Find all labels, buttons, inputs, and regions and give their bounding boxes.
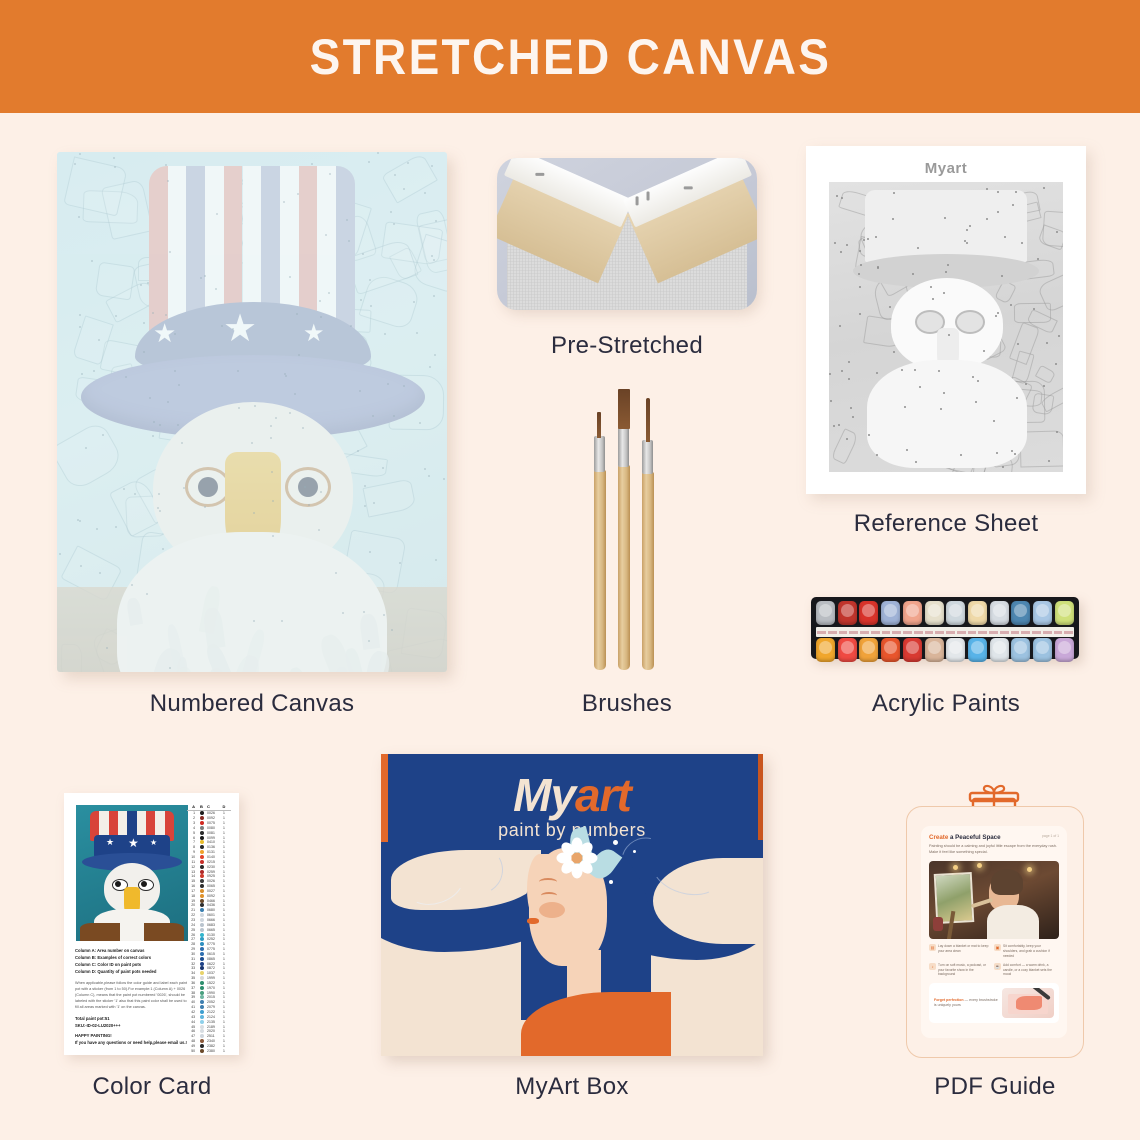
cell-color-swatch <box>200 1029 204 1033</box>
eagle-eye-right <box>285 467 331 507</box>
cell-color-id: 2135 <box>207 1020 221 1024</box>
cell-area-number: 26 <box>187 933 197 937</box>
cell-quantity: 1 <box>221 952 227 956</box>
color-card-row: 13 0259 1 <box>187 869 231 874</box>
col-header-d: D <box>221 804 227 809</box>
cell-color-swatch <box>200 1034 204 1038</box>
cell-color-swatch <box>200 903 204 907</box>
color-card-row: 30 0615 1 <box>187 951 231 956</box>
cell-quantity: 1 <box>221 1029 227 1033</box>
cell-quantity: 1 <box>221 995 227 999</box>
color-card-row: 46 2020 1 <box>187 1029 231 1034</box>
color-card-row: 38 1990 1 <box>187 990 231 995</box>
cell-color-swatch <box>200 1025 204 1029</box>
cell-color-swatch <box>200 952 204 956</box>
cell-color-id: 0666 <box>207 918 221 922</box>
brush-flat <box>618 388 630 670</box>
cell-color-swatch <box>200 995 204 999</box>
paint-pot <box>925 638 944 662</box>
color-card-row: 5 0081 1 <box>187 830 231 835</box>
pdf-page-number: page 1 of 1 <box>1042 834 1059 838</box>
cell-quantity: 1 <box>221 860 227 864</box>
pdf-heading: Create a Peaceful Space <box>929 834 1059 841</box>
color-card-row: 32 0622 1 <box>187 961 231 966</box>
cell-quantity: 1 <box>221 831 227 835</box>
cell-quantity: 1 <box>221 1039 227 1043</box>
legend-d: Column D: Quantity of paint pots needed <box>75 969 191 976</box>
color-card-row: 49 2382 1 <box>187 1044 231 1049</box>
cell-color-id: 0099 <box>207 836 221 840</box>
cell-quantity: 1 <box>221 933 227 937</box>
cell-quantity: 1 <box>221 889 227 893</box>
star-icon: ★ <box>223 310 257 348</box>
paint-pot <box>990 601 1009 625</box>
cell-area-number: 18 <box>187 894 197 898</box>
cell-quantity: 1 <box>221 811 227 815</box>
caption-pre-stretched: Pre-Stretched <box>497 332 757 360</box>
cell-quantity: 1 <box>221 826 227 830</box>
pdf-heading-accent: Create <box>929 834 948 841</box>
tip-text: Turn on soft music, a podcast, or your f… <box>938 963 991 978</box>
paint-pot <box>990 638 1009 662</box>
cell-quantity: 1 <box>221 923 227 927</box>
gray-eye-right <box>955 310 985 334</box>
cell-color-swatch <box>200 1005 204 1009</box>
cell-area-number: 4 <box>187 826 197 830</box>
cell-color-id: 2020 <box>207 1029 221 1033</box>
cell-color-id: 0075 <box>207 821 221 825</box>
cell-color-swatch <box>200 831 204 835</box>
cell-quantity: 1 <box>221 928 227 932</box>
cheek-blush <box>539 902 565 918</box>
color-card-row: 24 0683 1 <box>187 922 231 927</box>
color-card-row: 15 0026 1 <box>187 879 231 884</box>
cell-color-swatch <box>200 816 204 820</box>
color-card-row: 21 0680 1 <box>187 908 231 913</box>
help-text: If you have any questions or need help,p… <box>75 1039 191 1046</box>
cell-area-number: 25 <box>187 928 197 932</box>
cell-color-swatch <box>200 850 204 854</box>
pre-stretched-image <box>497 158 757 310</box>
cell-color-swatch <box>200 986 204 990</box>
tip-text: Sit comfortably, keep your shoulders, an… <box>1003 944 1056 959</box>
cell-quantity: 1 <box>221 884 227 888</box>
cell-quantity: 1 <box>221 913 227 917</box>
cell-color-swatch <box>200 1000 204 1004</box>
cell-color-id: 0622 <box>207 962 221 966</box>
page-title: STRETCHED CANVAS <box>309 28 831 86</box>
cell-color-id: 0026 <box>207 811 221 815</box>
cell-area-number: 14 <box>187 874 197 878</box>
color-card-row: 1 0026 1 <box>187 811 231 816</box>
cell-color-swatch <box>200 1015 204 1019</box>
cell-color-id: 0683 <box>207 923 221 927</box>
cell-color-id: 0466 <box>207 899 221 903</box>
cell-color-id: 1522 <box>207 981 221 985</box>
cell-quantity: 1 <box>221 966 227 970</box>
brushes-image <box>594 385 664 670</box>
cell-color-id: 2079 <box>207 1005 221 1009</box>
cell-area-number: 20 <box>187 903 197 907</box>
cell-color-id: 0131 <box>207 850 221 854</box>
cell-color-swatch <box>200 971 204 975</box>
color-card-row: 11 0215 1 <box>187 859 231 864</box>
color-card-row: 4 0080 1 <box>187 826 231 831</box>
cell-area-number: 23 <box>187 918 197 922</box>
color-card-row: 29 0775 1 <box>187 947 231 952</box>
cell-area-number: 16 <box>187 884 197 888</box>
color-card-row: 16 0065 1 <box>187 884 231 889</box>
col-header-a: A <box>187 804 197 809</box>
cell-color-id: 0230 <box>207 865 221 869</box>
cell-color-swatch <box>200 947 204 951</box>
cell-area-number: 7 <box>187 840 197 844</box>
caption-numbered-canvas: Numbered Canvas <box>57 690 447 718</box>
cell-color-swatch <box>200 962 204 966</box>
cell-quantity: 1 <box>221 1049 227 1053</box>
paint-pot <box>838 638 857 662</box>
paint-pot <box>838 601 857 625</box>
cell-color-swatch <box>200 933 204 937</box>
cell-color-swatch <box>200 845 204 849</box>
color-card-row: 7 0410 1 <box>187 840 231 845</box>
cell-color-id: 2124 <box>207 1015 221 1019</box>
color-card-row: 31 0865 1 <box>187 956 231 961</box>
star-icon: ★ <box>153 320 176 346</box>
cell-color-id: 0665 <box>207 928 221 932</box>
cell-area-number: 50 <box>187 1049 197 1053</box>
gray-hat-crown <box>865 190 1027 262</box>
pdf-note: Forget perfection — every brushstroke is… <box>929 983 1059 1023</box>
staple-icon <box>684 186 693 189</box>
cell-color-id: 0080 <box>207 826 221 830</box>
color-card-row: 8 0136 1 <box>187 845 231 850</box>
cell-color-swatch <box>200 913 204 917</box>
cell-color-id: 2122 <box>207 1010 221 1014</box>
cell-color-swatch <box>200 1010 204 1014</box>
pdf-tip: ♪ Turn on soft music, a podcast, or your… <box>929 963 994 978</box>
acrylic-paints-image <box>811 597 1079 659</box>
color-card-row: 42 2122 1 <box>187 1010 231 1015</box>
paint-pot <box>1055 601 1074 625</box>
cell-color-swatch <box>200 821 204 825</box>
cell-quantity: 1 <box>221 821 227 825</box>
cell-color-id: 2380 <box>207 1049 221 1053</box>
paint-tray-label-strip <box>816 627 1074 637</box>
eyebrow <box>539 878 557 886</box>
cell-area-number: 10 <box>187 855 197 859</box>
page-header: STRETCHED CANVAS <box>0 0 1140 113</box>
lips <box>527 918 539 924</box>
cell-quantity: 1 <box>221 816 227 820</box>
brush-small <box>594 415 606 670</box>
pdf-subtitle: Painting should be a calming and joyful … <box>929 844 1059 856</box>
cell-quantity: 1 <box>221 981 227 985</box>
color-card-row: 17 0027 1 <box>187 889 231 894</box>
cell-area-number: 5 <box>187 831 197 835</box>
caption-acrylic-paints: Acrylic Paints <box>806 690 1086 718</box>
cell-quantity: 1 <box>221 942 227 946</box>
legend-a: Column A: Area number on canvas <box>75 948 191 955</box>
tip-text: Add comfort — a warm drink, a candle, or… <box>1003 963 1056 978</box>
canvas-artwork: ★ ★ ★ <box>57 152 447 672</box>
reference-sheet-image: Myart <box>806 146 1086 494</box>
cell-area-number: 3 <box>187 821 197 825</box>
cell-quantity: 1 <box>221 870 227 874</box>
color-card-row: 19 0466 1 <box>187 898 231 903</box>
tip-icon: ☕ <box>994 963 1001 970</box>
cell-area-number: 19 <box>187 899 197 903</box>
cell-color-id: 0092 <box>207 816 221 820</box>
cell-quantity: 1 <box>221 918 227 922</box>
cell-color-id: 0615 <box>207 952 221 956</box>
color-card-row: 22 0601 1 <box>187 913 231 918</box>
paint-pot <box>1011 638 1030 662</box>
color-card-row: 27 0252 1 <box>187 937 231 942</box>
color-card-row: 33 0872 1 <box>187 966 231 971</box>
cell-quantity: 1 <box>221 976 227 980</box>
color-card-row: 20 0436 1 <box>187 903 231 908</box>
paint-pot <box>968 638 987 662</box>
paint-pot <box>903 638 922 662</box>
cell-color-id: 0215 <box>207 860 221 864</box>
brush-round <box>642 398 654 670</box>
cell-color-id: 0865 <box>207 957 221 961</box>
cell-color-swatch <box>200 942 204 946</box>
color-card-row: 45 2189 1 <box>187 1024 231 1029</box>
cell-quantity: 1 <box>221 855 227 859</box>
cell-area-number: 22 <box>187 913 197 917</box>
staple-icon <box>636 196 639 205</box>
cell-color-id: 0065 <box>207 884 221 888</box>
cell-quantity: 1 <box>221 899 227 903</box>
cell-color-swatch <box>200 899 204 903</box>
cell-area-number: 1 <box>187 811 197 815</box>
color-card-row: 36 1522 1 <box>187 981 231 986</box>
myart-box-image: Myart paint by numbers <box>381 754 763 1056</box>
cell-color-swatch <box>200 826 204 830</box>
color-card-row: 40 2052 1 <box>187 1000 231 1005</box>
cell-color-swatch <box>200 908 204 912</box>
cell-color-swatch <box>200 1020 204 1024</box>
staple-icon <box>647 191 650 200</box>
col-header-b: B <box>200 804 204 808</box>
pdf-tip: ☕ Add comfort — a warm drink, a candle, … <box>994 963 1059 978</box>
cell-area-number: 11 <box>187 860 197 864</box>
cell-color-swatch <box>200 894 204 898</box>
eye-closed <box>541 892 557 899</box>
paint-pot <box>925 601 944 625</box>
cell-quantity: 1 <box>221 836 227 840</box>
cell-quantity: 1 <box>221 947 227 951</box>
cell-quantity: 1 <box>221 879 227 883</box>
paint-pot-row-top <box>816 601 1074 626</box>
cell-color-swatch <box>200 855 204 859</box>
cell-area-number: 21 <box>187 908 197 912</box>
color-card-row: 18 0092 1 <box>187 893 231 898</box>
cell-quantity: 1 <box>221 1034 227 1038</box>
cell-color-id: 0601 <box>207 913 221 917</box>
cell-quantity: 1 <box>221 845 227 849</box>
cell-color-swatch <box>200 1044 204 1048</box>
paint-pot <box>881 601 900 625</box>
cell-color-id: 0775 <box>207 947 221 951</box>
pdf-photo <box>929 861 1059 939</box>
col-header-c: C <box>207 804 221 809</box>
sku-code: SKU:-ID-02-LU2020+++ <box>75 1022 191 1029</box>
color-card-row: 50 2380 1 <box>187 1048 231 1053</box>
cell-color-id: 0680 <box>207 908 221 912</box>
cell-color-swatch <box>200 865 204 869</box>
cell-color-id: 0872 <box>207 966 221 970</box>
cell-color-swatch <box>200 811 204 815</box>
cell-area-number: 6 <box>187 836 197 840</box>
color-card-table-header: A B C D <box>187 804 231 811</box>
cell-area-number: 27 <box>187 937 197 941</box>
cell-quantity: 1 <box>221 991 227 995</box>
pdf-guide-page: page 1 of 1 Create a Peaceful Space Pain… <box>921 826 1067 1038</box>
cell-color-swatch <box>200 937 204 941</box>
cell-color-id: 1037 <box>207 971 221 975</box>
caption-myart-box: MyArt Box <box>381 1073 763 1101</box>
color-card-row: 34 1037 1 <box>187 971 231 976</box>
cell-color-swatch <box>200 1049 204 1053</box>
paint-pot <box>968 601 987 625</box>
gray-chest <box>867 360 1027 468</box>
cell-quantity: 1 <box>221 894 227 898</box>
cell-color-swatch <box>200 870 204 874</box>
happy-painting: HAPPY PAINTING! <box>75 1032 191 1039</box>
color-card-row: 37 1970 1 <box>187 985 231 990</box>
color-card-row: 6 0099 1 <box>187 835 231 840</box>
cell-color-swatch <box>200 836 204 840</box>
cell-color-id: 0925 <box>207 874 221 878</box>
sparkle-dot <box>609 880 613 884</box>
cell-area-number: 15 <box>187 879 197 883</box>
cell-color-swatch <box>200 889 204 893</box>
color-card-row: 47 2511 1 <box>187 1034 231 1039</box>
cell-quantity: 1 <box>221 937 227 941</box>
cell-color-id: 0026 <box>207 879 221 883</box>
cell-quantity: 1 <box>221 1044 227 1048</box>
cell-color-swatch <box>200 860 204 864</box>
caption-pdf-guide: PDF Guide <box>900 1073 1090 1101</box>
numbered-canvas-image: ★ ★ ★ <box>57 152 447 672</box>
paint-pot <box>881 638 900 662</box>
color-card-row: 26 0130 1 <box>187 932 231 937</box>
color-card-image: ★ ★ ★ A B C D 1 0026 1 <box>64 793 239 1055</box>
cell-quantity: 1 <box>221 986 227 990</box>
tip-text: Lay down a blanket or mat to keep your a… <box>938 944 991 959</box>
cell-color-swatch <box>200 1039 204 1043</box>
paint-pot <box>1033 638 1052 662</box>
infographic-page: STRETCHED CANVAS ★ ★ ★ Numbered Canvas <box>0 0 1140 1140</box>
color-card-text: Column A: Area number on canvas Column B… <box>75 948 191 1047</box>
cell-quantity: 1 <box>221 840 227 844</box>
cell-color-id: 2189 <box>207 1025 221 1029</box>
legend-c: Column C: Color ID on paint pots <box>75 962 191 969</box>
cell-color-swatch <box>200 884 204 888</box>
cell-quantity: 1 <box>221 957 227 961</box>
logo-art: art <box>575 769 631 821</box>
cell-quantity: 1 <box>221 1000 227 1004</box>
cell-quantity: 1 <box>221 874 227 878</box>
cell-quantity: 1 <box>221 962 227 966</box>
paint-pot <box>1055 638 1074 662</box>
cell-color-id: 1990 <box>207 991 221 995</box>
cell-color-id: 0775 <box>207 942 221 946</box>
cell-color-id: 0140 <box>207 855 221 859</box>
color-card-row: 2 0092 1 <box>187 816 231 821</box>
sparkle-dot <box>613 840 618 845</box>
legend-b: Column B: Examples of correct colors <box>75 955 191 962</box>
pupil <box>198 477 218 497</box>
paint-pot <box>859 601 878 625</box>
color-card-row: 10 0140 1 <box>187 855 231 860</box>
paint-pot <box>859 638 878 662</box>
cell-color-swatch <box>200 928 204 932</box>
cell-color-id: 2052 <box>207 1000 221 1004</box>
paint-pot <box>946 638 965 662</box>
cell-area-number: 12 <box>187 865 197 869</box>
cell-area-number: 8 <box>187 845 197 849</box>
cell-quantity: 1 <box>221 850 227 854</box>
color-card-photo: ★ ★ ★ <box>76 805 188 941</box>
color-card-row: 28 0775 1 <box>187 942 231 947</box>
cell-color-id: 2340 <box>207 1039 221 1043</box>
cell-color-swatch <box>200 874 204 878</box>
cell-color-id: 2382 <box>207 1044 221 1048</box>
caption-brushes: Brushes <box>497 690 757 718</box>
tip-icon: ▣ <box>994 944 1001 951</box>
cell-color-id: 2511 <box>207 1034 221 1038</box>
cell-quantity: 1 <box>221 1010 227 1014</box>
cell-color-id: 2015 <box>207 995 221 999</box>
paint-pot <box>816 601 835 625</box>
cell-area-number: 9 <box>187 850 197 854</box>
cell-color-id: 1999 <box>207 976 221 980</box>
cell-quantity: 1 <box>221 908 227 912</box>
cell-quantity: 1 <box>221 903 227 907</box>
color-card-row: 3 0075 1 <box>187 821 231 826</box>
cell-quantity: 1 <box>221 971 227 975</box>
cell-color-swatch <box>200 966 204 970</box>
color-card-row: 48 2340 1 <box>187 1039 231 1044</box>
cell-color-swatch <box>200 991 204 995</box>
cell-color-id: 0081 <box>207 831 221 835</box>
cell-color-id: 0092 <box>207 894 221 898</box>
color-card-row: 14 0925 1 <box>187 874 231 879</box>
cell-quantity: 1 <box>221 1015 227 1019</box>
cell-color-id: 0136 <box>207 845 221 849</box>
color-card-row: 23 0666 1 <box>187 918 231 923</box>
pdf-tip: ▤ Lay down a blanket or mat to keep your… <box>929 944 994 959</box>
star-icon: ★ <box>303 322 325 346</box>
pdf-tips-list: ▤ Lay down a blanket or mat to keep your… <box>929 944 1059 982</box>
paint-pot <box>946 601 965 625</box>
cell-quantity: 1 <box>221 1025 227 1029</box>
cell-color-swatch <box>200 923 204 927</box>
caption-color-card: Color Card <box>57 1073 247 1101</box>
reference-sheet-artwork <box>829 182 1063 472</box>
cell-color-swatch <box>200 879 204 883</box>
color-card-row: 35 1999 1 <box>187 976 231 981</box>
cell-area-number: 28 <box>187 942 197 946</box>
cell-color-swatch <box>200 976 204 980</box>
staple-icon <box>535 173 544 176</box>
paint-pot <box>1033 601 1052 625</box>
cell-color-id: 1970 <box>207 986 221 990</box>
